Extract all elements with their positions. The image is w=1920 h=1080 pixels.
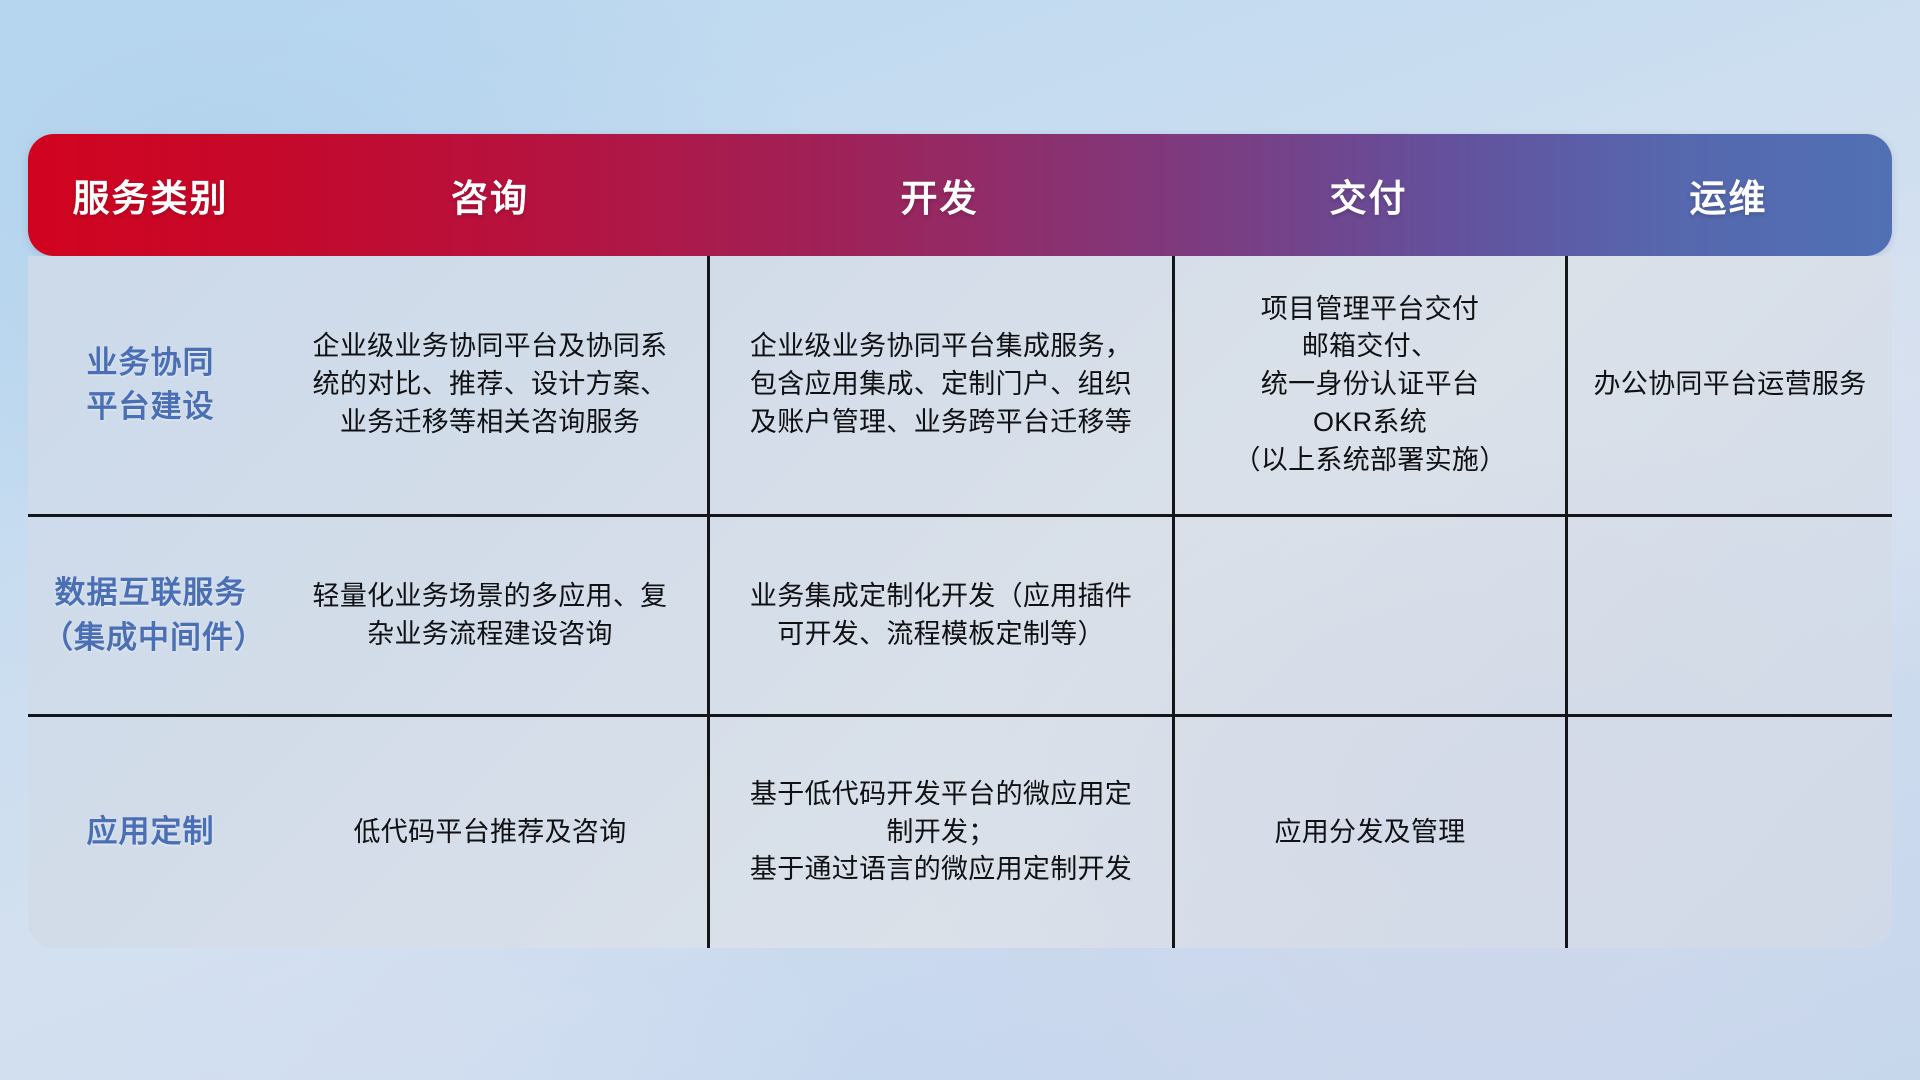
cell-development: 企业级业务协同平台集成服务， 包含应用集成、定制门户、组织 及账户管理、业务跨平… <box>707 256 1172 514</box>
cell-text: 应用分发及管理 <box>1274 814 1465 852</box>
row-category-cell: 业务协同 平台建设 <box>28 256 273 514</box>
column-header-service-category: 服务类别 <box>28 168 273 222</box>
column-header-consulting: 咨询 <box>273 168 707 222</box>
cell-operations <box>1565 717 1892 948</box>
column-header-operations: 运维 <box>1565 168 1892 222</box>
cell-consulting: 轻量化业务场景的多应用、复 杂业务流程建设咨询 <box>273 517 707 714</box>
cell-consulting: 低代码平台推荐及咨询 <box>273 717 707 948</box>
cell-development: 业务集成定制化开发（应用插件 可开发、流程模板定制等） <box>707 517 1172 714</box>
category-label: 业务协同 平台建设 <box>87 341 215 429</box>
cell-delivery <box>1172 517 1565 714</box>
cell-text: 项目管理平台交付 邮箱交付、 统一身份认证平台 OKR系统 （以上系统部署实施） <box>1234 291 1507 480</box>
cell-text: 低代码平台推荐及咨询 <box>354 814 627 852</box>
table-body: 业务协同 平台建设 企业级业务协同平台及协同系 统的对比、推荐、设计方案、 业务… <box>28 256 1892 948</box>
cell-text: 办公协同平台运营服务 <box>1594 366 1867 404</box>
cell-text: 企业级业务协同平台及协同系 统的对比、推荐、设计方案、 业务迁移等相关咨询服务 <box>313 328 668 441</box>
table-header-row: 服务类别 咨询 开发 交付 运维 <box>28 134 1892 256</box>
category-label: 数据互联服务 （集成中间件） <box>42 571 259 659</box>
cell-consulting: 企业级业务协同平台及协同系 统的对比、推荐、设计方案、 业务迁移等相关咨询服务 <box>273 256 707 514</box>
column-header-development: 开发 <box>707 168 1172 222</box>
cell-operations: 办公协同平台运营服务 <box>1565 256 1892 514</box>
category-label: 应用定制 <box>87 810 215 854</box>
table-row: 数据互联服务 （集成中间件） 轻量化业务场景的多应用、复 杂业务流程建设咨询 业… <box>28 514 1892 714</box>
cell-development: 基于低代码开发平台的微应用定 制开发； 基于通过语言的微应用定制开发 <box>707 717 1172 948</box>
column-header-delivery: 交付 <box>1172 168 1565 222</box>
cell-text: 轻量化业务场景的多应用、复 杂业务流程建设咨询 <box>313 578 668 654</box>
row-category-cell: 数据互联服务 （集成中间件） <box>28 517 273 714</box>
cell-text: 业务集成定制化开发（应用插件 可开发、流程模板定制等） <box>750 578 1132 654</box>
table-row: 业务协同 平台建设 企业级业务协同平台及协同系 统的对比、推荐、设计方案、 业务… <box>28 256 1892 514</box>
table-row: 应用定制 低代码平台推荐及咨询 基于低代码开发平台的微应用定 制开发； 基于通过… <box>28 714 1892 948</box>
cell-text: 基于低代码开发平台的微应用定 制开发； 基于通过语言的微应用定制开发 <box>750 776 1132 889</box>
row-category-cell: 应用定制 <box>28 717 273 948</box>
cell-delivery: 项目管理平台交付 邮箱交付、 统一身份认证平台 OKR系统 （以上系统部署实施） <box>1172 256 1565 514</box>
cell-operations <box>1565 517 1892 714</box>
cell-delivery: 应用分发及管理 <box>1172 717 1565 948</box>
cell-text: 企业级业务协同平台集成服务， 包含应用集成、定制门户、组织 及账户管理、业务跨平… <box>750 328 1132 441</box>
service-matrix-table: 服务类别 咨询 开发 交付 运维 业务协同 平台建设 企业级业务协同平台及协同系… <box>28 134 1892 948</box>
